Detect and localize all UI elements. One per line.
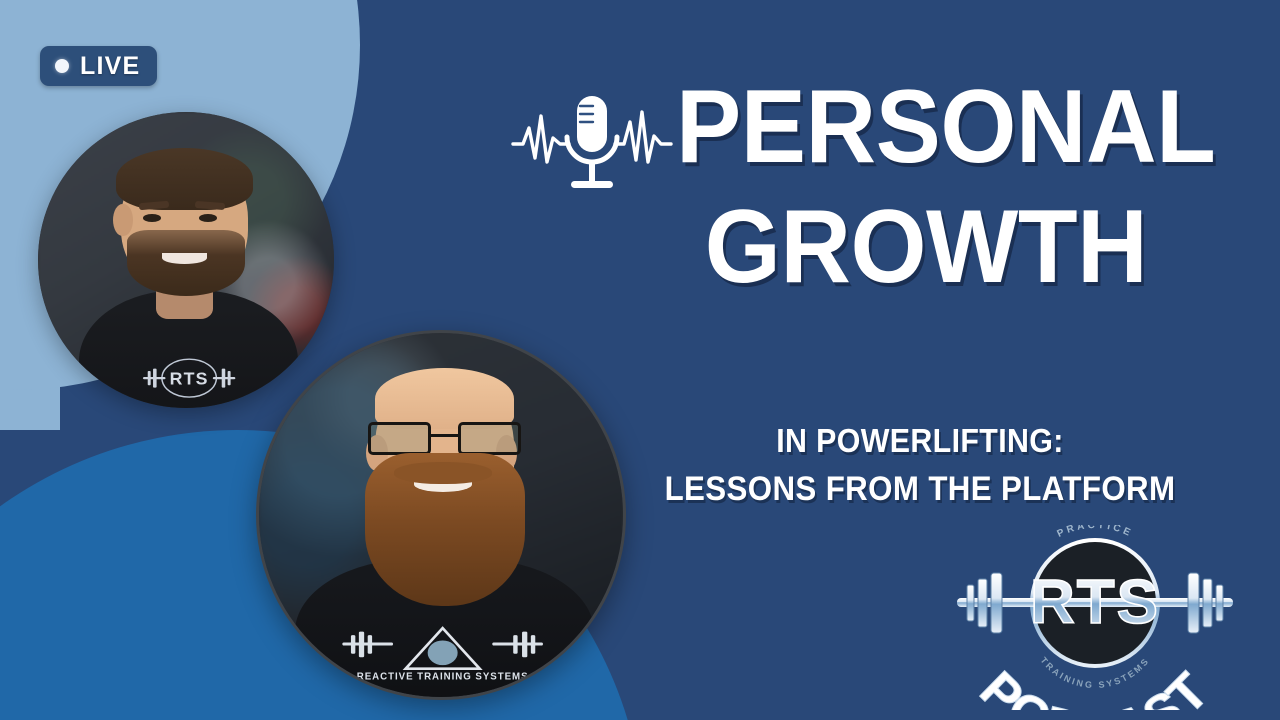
live-dot-icon	[55, 59, 69, 73]
thumbnail-canvas: LIVE	[0, 0, 1280, 720]
logo-rts-text: RTS	[1030, 568, 1160, 637]
live-badge[interactable]: LIVE	[40, 46, 157, 86]
host-b-scalp	[375, 368, 513, 430]
microphone-waveform-icon	[507, 82, 677, 212]
host-a-hair	[116, 148, 252, 210]
host-a-eye-right	[199, 214, 217, 222]
svg-text:RTS: RTS	[169, 368, 208, 388]
host-a-eye-left	[143, 214, 161, 222]
host-a-ear	[113, 204, 132, 237]
rts-podcast-logo: PRACTICE TRAINING SYSTEMS RTS PODCAST	[945, 525, 1245, 710]
host-b-mustache	[394, 462, 492, 484]
host-b-shirt-logo: REACTIVE TRAINING SYSTEMS	[328, 621, 557, 683]
host-a-shirt-rts-logo: RTS	[127, 358, 251, 399]
svg-text:REACTIVE TRAINING SYSTEMS: REACTIVE TRAINING SYSTEMS	[357, 671, 529, 682]
subtitle-line-2: LESSONS FROM THE PLATFORM	[644, 465, 1196, 513]
live-badge-label: LIVE	[80, 54, 140, 79]
host-b-lens-left	[368, 422, 431, 455]
logo-arc-top-text: PRACTICE	[1056, 525, 1135, 540]
title-line-1: PERSONAL	[676, 78, 1146, 178]
subtitle-line-1: IN POWERLIFTING:	[644, 418, 1196, 465]
host-b-glasses	[368, 422, 521, 455]
host-b-glasses-bridge	[431, 434, 459, 437]
host-b-lens-right	[458, 422, 521, 455]
host-b-photo: REACTIVE TRAINING SYSTEMS	[259, 333, 623, 697]
title-line-2: GROWTH	[691, 198, 1161, 298]
subtitle-block: IN POWERLIFTING: LESSONS FROM THE PLATFO…	[620, 418, 1220, 513]
host-photo-lower: REACTIVE TRAINING SYSTEMS	[256, 330, 626, 700]
title-block: PERSONAL GROWTH	[676, 78, 1176, 298]
